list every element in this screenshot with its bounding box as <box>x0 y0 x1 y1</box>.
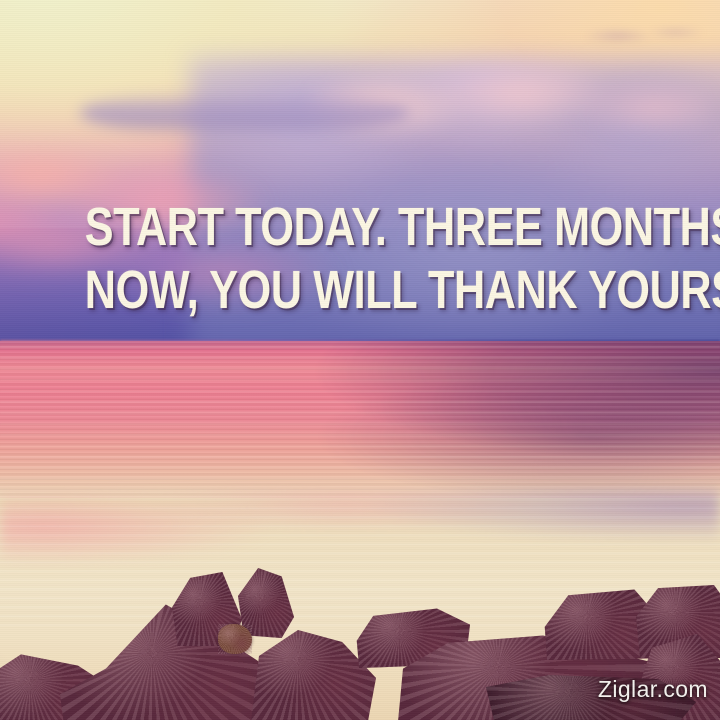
quote-text-block: START TODAY. THREE MONTHS FROM NOW, YOU … <box>0 196 720 322</box>
rock <box>218 624 252 654</box>
watermark-ziglar[interactable]: Ziglar.com <box>598 676 708 703</box>
cloud-lit-rim <box>310 52 710 142</box>
quote-line-2: NOW, YOU WILL THANK YOURSELF. <box>85 259 635 322</box>
ocean-highlight-ripples <box>0 345 720 495</box>
rock-texture <box>218 624 252 654</box>
quote-poster: START TODAY. THREE MONTHS FROM NOW, YOU … <box>0 0 720 720</box>
quote-line-1: START TODAY. THREE MONTHS FROM <box>85 196 635 259</box>
cloud-wisp <box>582 18 702 54</box>
